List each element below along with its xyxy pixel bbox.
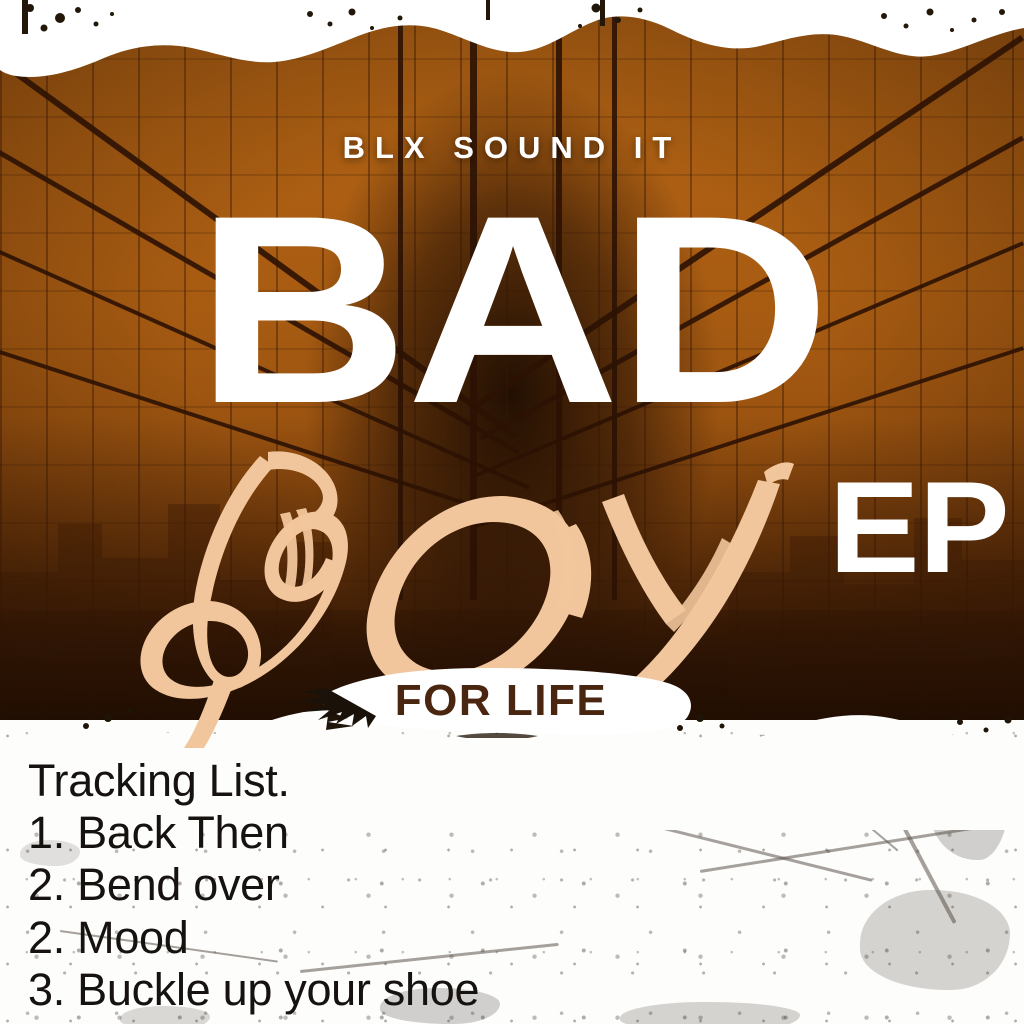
format-badge: EP xyxy=(828,462,1008,592)
grunge-splotch xyxy=(930,740,1010,860)
grunge-splotch xyxy=(860,890,1010,990)
tracking-list: Tracking List. 1. Back Then 2. Bend over… xyxy=(28,755,668,1016)
track-item-2: 2. Bend over xyxy=(28,859,668,911)
album-title: BAD xyxy=(0,186,1024,433)
tagline-label: FOR LIFE xyxy=(296,676,706,726)
album-cover: BLX SOUND IT BAD EP FOR LIFE xyxy=(0,0,1024,1024)
track-item-1: 1. Back Then xyxy=(28,807,668,859)
track-item-3: 2. Mood xyxy=(28,912,668,964)
track-item-4: 3. Buckle up your shoe xyxy=(28,964,668,1016)
tagline-banner: FOR LIFE xyxy=(296,662,706,738)
tracking-list-heading: Tracking List. xyxy=(28,755,668,807)
